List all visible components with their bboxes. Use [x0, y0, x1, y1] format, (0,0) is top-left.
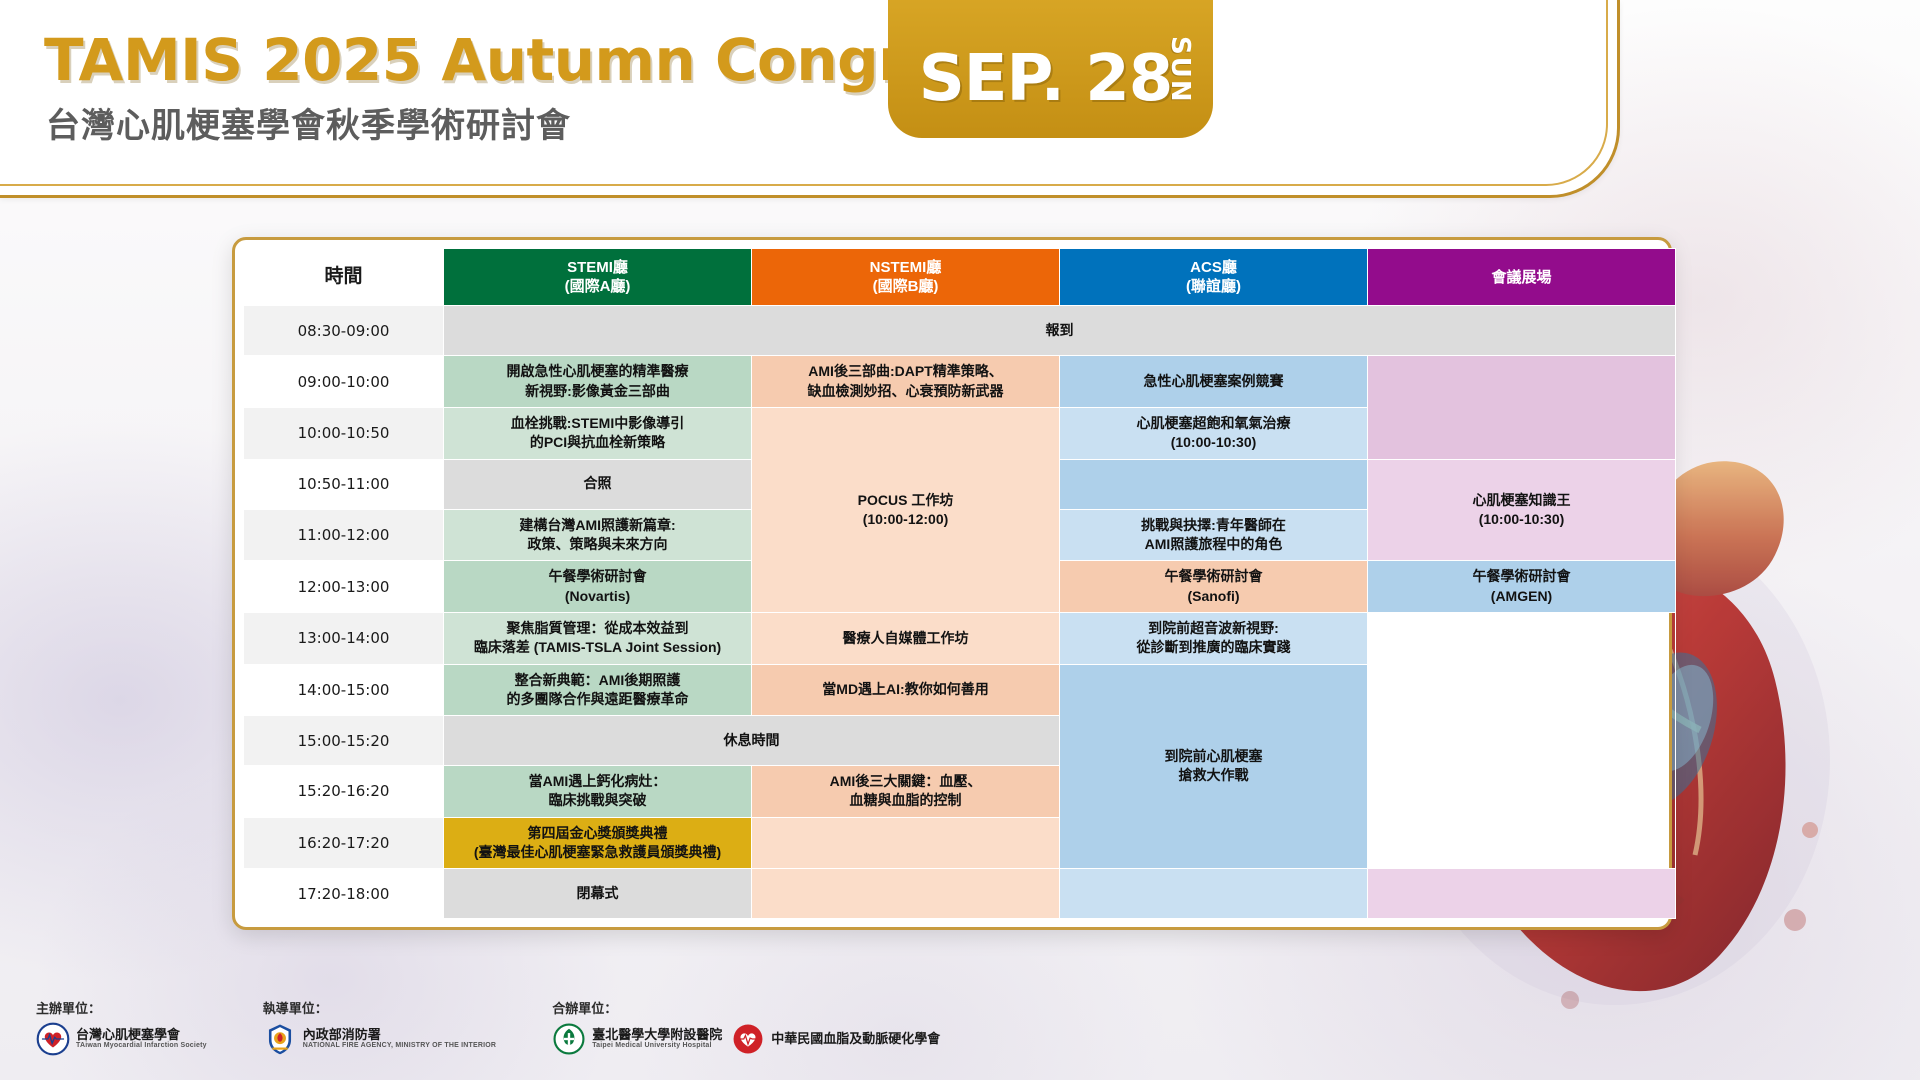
session-acs: 急性心肌梗塞案例競賽 — [1060, 356, 1368, 408]
table-row: 15:00-15:20 休息時間 — [244, 716, 1676, 766]
header-acs-sub: (聯誼廳) — [1064, 277, 1363, 296]
session-photo: 合照 — [444, 459, 752, 509]
tmuh-logo-icon — [552, 1022, 586, 1056]
session-stemi: 當AMI遇上鈣化病灶：臨床挑戰與突破 — [444, 766, 752, 818]
fire-agency-logo-icon — [263, 1022, 297, 1056]
session-closing: 閉幕式 — [444, 869, 752, 919]
session-break: 休息時間 — [444, 716, 1060, 766]
page-title: TAMIS 2025 Autumn Congress — [44, 26, 1013, 94]
exec-group: 執導單位： 內政部消防署 NATIONAL FIRE AGENCY, MINIS… — [263, 998, 496, 1056]
row-time: 17:20-18:00 — [244, 869, 444, 919]
coorg2-item: 中華民國血脂及動脈硬化學會 — [731, 1022, 940, 1056]
session-acs-empty2 — [1060, 869, 1368, 919]
page-subtitle: 台灣心肌梗塞學會秋季學術研討會 — [46, 98, 571, 147]
session-stemi: 聚焦脂質管理：從成本效益到臨床落差 (TAMIS-TSLA Joint Sess… — [444, 612, 752, 664]
header-time: 時間 — [244, 249, 444, 306]
exec-item: 內政部消防署 NATIONAL FIRE AGENCY, MINISTRY OF… — [263, 1022, 496, 1056]
exec-label: 執導單位： — [263, 998, 496, 1017]
coorg1-item: 臺北醫學大學附設醫院 Taipei Medical University Hos… — [552, 1022, 722, 1056]
date-badge-dow: SUN — [1165, 36, 1195, 104]
table-row: 15:20-16:20 當AMI遇上鈣化病灶：臨床挑戰與突破 AMI後三大關鍵：… — [244, 766, 1676, 818]
table-row: 16:20-17:20 第四屆金心獎頒獎典禮(臺灣最佳心肌梗塞緊急救護員頒獎典禮… — [244, 817, 1676, 869]
tamis-logo-icon — [36, 1022, 70, 1056]
host-row: 台灣心肌梗塞學會 TAiwan Myocardial Infarction So… — [36, 1022, 207, 1056]
table-row: 08:30-09:00 報到 — [244, 306, 1676, 356]
coorg-label: 合辦單位： — [552, 998, 940, 1017]
coorg-row: 臺北醫學大學附設醫院 Taipei Medical University Hos… — [552, 1022, 940, 1056]
row-time: 13:00-14:00 — [244, 612, 444, 664]
session-nstemi: AMI後三部曲:DAPT精準策略、缺血檢測妙招、心衰預防新武器 — [752, 356, 1060, 408]
exec-row: 內政部消防署 NATIONAL FIRE AGENCY, MINISTRY OF… — [263, 1022, 496, 1056]
schedule-card: 時間 STEMI廳 (國際A廳) NSTEMI廳 (國際B廳) ACS廳 (聯誼… — [232, 237, 1672, 930]
session-expo-empty2 — [1368, 869, 1676, 919]
header-nstemi-sub: (國際B廳) — [756, 277, 1055, 296]
session-stemi: 建構台灣AMI照護新篇章:政策、策略與未來方向 — [444, 509, 752, 561]
header-stemi: STEMI廳 (國際A廳) — [444, 249, 752, 306]
schedule-table: 時間 STEMI廳 (國際A廳) NSTEMI廳 (國際B廳) ACS廳 (聯誼… — [243, 248, 1676, 919]
coorg-group: 合辦單位： 臺北醫學大學附設醫院 Taipei Medical Universi… — [552, 998, 940, 1056]
table-row: 09:00-10:00 開啟急性心肌梗塞的精準醫療新視野:影像黃金三部曲 AMI… — [244, 356, 1676, 408]
header-stemi-label: STEMI廳 — [448, 258, 747, 277]
session-acs: 挑戰與抉擇:青年醫師在AMI照護旅程中的角色 — [1060, 509, 1368, 561]
session-nstemi: 當MD遇上AI:教你如何善用 — [752, 664, 1060, 716]
host-name: 台灣心肌梗塞學會 TAiwan Myocardial Infarction So… — [76, 1028, 207, 1051]
exec-name: 內政部消防署 NATIONAL FIRE AGENCY, MINISTRY OF… — [303, 1028, 496, 1051]
schedule-body: 08:30-09:00 報到 09:00-10:00 開啟急性心肌梗塞的精準醫療… — [244, 306, 1676, 919]
row-time: 14:00-15:00 — [244, 664, 444, 716]
session-expo-quiz: 心肌梗塞知識王(10:00-10:30) — [1368, 459, 1676, 561]
session-acs: 午餐學術研討會(AMGEN) — [1368, 561, 1676, 613]
table-row: 13:00-14:00 聚焦脂質管理：從成本效益到臨床落差 (TAMIS-TSL… — [244, 612, 1676, 664]
session-nstemi-empty2 — [752, 869, 1060, 919]
header-stemi-sub: (國際A廳) — [448, 277, 747, 296]
table-row: 14:00-15:00 整合新典範：AMI後期照護的多團隊合作與遠距醫療革命 當… — [244, 664, 1676, 716]
session-acs-prehospital: 到院前心肌梗塞搶救大作戰 — [1060, 664, 1368, 869]
row-time: 12:00-13:00 — [244, 561, 444, 613]
session-stemi: 午餐學術研討會(Novartis) — [444, 561, 752, 613]
session-nstemi: AMI後三大關鍵：血壓、血糖與血脂的控制 — [752, 766, 1060, 818]
session-nstemi-pocus: POCUS 工作坊(10:00-12:00) — [752, 408, 1060, 613]
session-stemi: 整合新典範：AMI後期照護的多團隊合作與遠距醫療革命 — [444, 664, 752, 716]
row-time: 15:20-16:20 — [244, 766, 444, 818]
coorg2-name: 中華民國血脂及動脈硬化學會 — [771, 1032, 940, 1047]
host-group: 主辦單位： 台灣心肌梗塞學會 TAiwan Myocardial Infarct… — [36, 998, 207, 1056]
row-time: 10:50-11:00 — [244, 459, 444, 509]
date-badge-date: SEP. 28 — [919, 42, 1183, 138]
row-time: 15:00-15:20 — [244, 716, 444, 766]
session-award: 第四屆金心獎頒獎典禮(臺灣最佳心肌梗塞緊急救護員頒獎典禮) — [444, 817, 752, 869]
session-nstemi-empty — [752, 817, 1060, 869]
header-nstemi-label: NSTEMI廳 — [756, 258, 1055, 277]
lipid-society-logo-icon — [731, 1022, 765, 1056]
session-acs: 心肌梗塞超飽和氧氣治療(10:00-10:30) — [1060, 408, 1368, 460]
session-stemi: 開啟急性心肌梗塞的精準醫療新視野:影像黃金三部曲 — [444, 356, 752, 408]
header-nstemi: NSTEMI廳 (國際B廳) — [752, 249, 1060, 306]
header-acs: ACS廳 (聯誼廳) — [1060, 249, 1368, 306]
header-banner: TAMIS 2025 Autumn Congress 台灣心肌梗塞學會秋季學術研… — [0, 0, 1620, 198]
row-time: 11:00-12:00 — [244, 509, 444, 561]
session-nstemi: 午餐學術研討會(Sanofi) — [1060, 561, 1368, 613]
header-expo: 會議展場 — [1368, 249, 1676, 306]
session-expo-empty — [1368, 356, 1676, 459]
session-acs-empty — [1060, 459, 1368, 509]
host-item: 台灣心肌梗塞學會 TAiwan Myocardial Infarction So… — [36, 1022, 207, 1056]
session-stemi: 血栓挑戰:STEMI中影像導引的PCI與抗血栓新策略 — [444, 408, 752, 460]
session-acs: 到院前超音波新視野:從診斷到推廣的臨床實踐 — [1060, 612, 1368, 664]
header-acs-label: ACS廳 — [1064, 258, 1363, 277]
row-time: 10:00-10:50 — [244, 408, 444, 460]
row-time: 16:20-17:20 — [244, 817, 444, 869]
session-registration: 報到 — [444, 306, 1676, 356]
host-label: 主辦單位： — [36, 998, 207, 1017]
row-time: 08:30-09:00 — [244, 306, 444, 356]
row-time: 09:00-10:00 — [244, 356, 444, 408]
footer-organizers: 主辦單位： 台灣心肌梗塞學會 TAiwan Myocardial Infarct… — [36, 998, 940, 1056]
date-badge: SEP. 28 SUN — [888, 0, 1213, 138]
coorg1-name: 臺北醫學大學附設醫院 Taipei Medical University Hos… — [592, 1028, 722, 1051]
table-row: 17:20-18:00 閉幕式 — [244, 869, 1676, 919]
table-header-row: 時間 STEMI廳 (國際A廳) NSTEMI廳 (國際B廳) ACS廳 (聯誼… — [244, 249, 1676, 306]
session-nstemi: 醫療人自媒體工作坊 — [752, 612, 1060, 664]
